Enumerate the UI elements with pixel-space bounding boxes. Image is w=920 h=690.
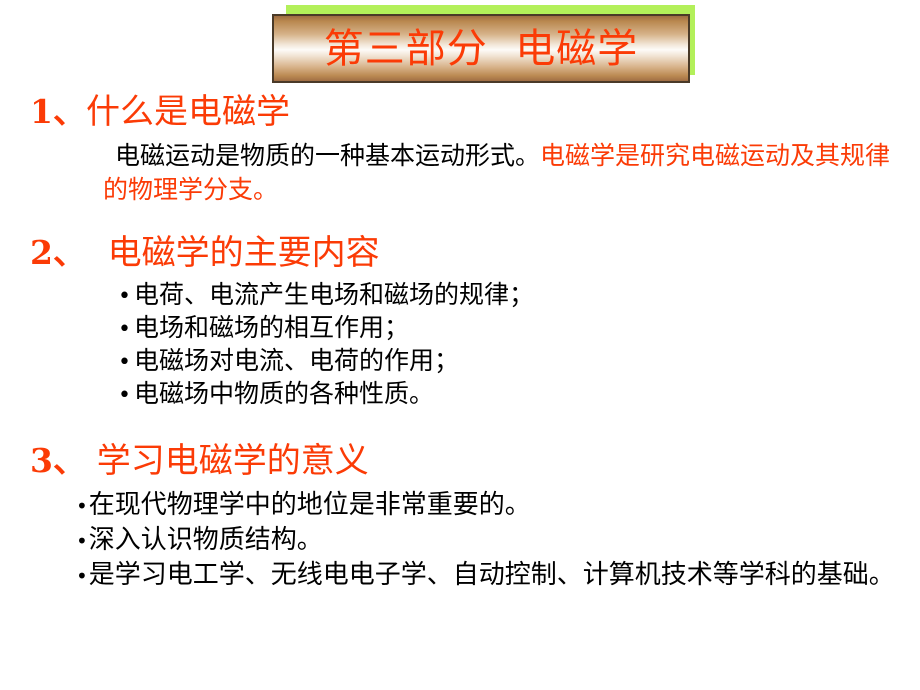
bullet-list-significance: 在现代物理学中的地位是非常重要的。 深入认识物质结构。 是学习电工学、无线电电子… (0, 488, 920, 593)
list-item: 电荷、电流产生电场和磁场的规律； (118, 278, 920, 311)
section-1-heading-text: 什么是电磁学 (86, 92, 290, 132)
section-2-heading-text: 电磁学的主要内容 (108, 233, 380, 273)
slide-title: 第三部分 电磁学 (324, 29, 638, 69)
title-banner: 第三部分 电磁学 (0, 0, 920, 90)
title-box: 第三部分 电磁学 (272, 14, 690, 83)
section-what-is-electromagnetism: 1、什么是电磁学 电磁运动是物质的一种基本运动形式。电磁学是研究电磁运动及其规律… (0, 95, 920, 208)
section-3-heading-spacer (86, 441, 97, 481)
bullet-list-content: 电荷、电流产生电场和磁场的规律； 电场和磁场的相互作用； 电磁场对电流、电荷的作… (0, 278, 920, 410)
section-significance: 3、 学习电磁学的意义 在现代物理学中的地位是非常重要的。 深入认识物质结构。 … (0, 444, 920, 593)
section-1-number: 1、 (30, 92, 86, 131)
paragraph-section-1: 电磁运动是物质的一种基本运动形式。电磁学是研究电磁运动及其规律的物理学分支。 (0, 139, 920, 208)
list-item: 是学习电工学、无线电电子学、自动控制、计算机技术等学科的基础。 (76, 558, 896, 593)
heading-section-1: 1、什么是电磁学 (0, 95, 920, 131)
slide-root: { "slide": { "title": "第三部分 电磁学", "color… (0, 0, 920, 690)
section-main-content: 2、 电磁学的主要内容 电荷、电流产生电场和磁场的规律； 电场和磁场的相互作用；… (0, 236, 920, 410)
list-item: 在现代物理学中的地位是非常重要的。 (76, 488, 896, 523)
section-3-number: 3、 (30, 441, 86, 480)
section-3-heading-text: 学习电磁学的意义 (97, 441, 369, 481)
heading-section-3: 3、 学习电磁学的意义 (0, 444, 920, 480)
list-item: 电场和磁场的相互作用； (118, 311, 920, 344)
list-item: 电磁场中物质的各种性质。 (118, 377, 920, 410)
list-item: 深入认识物质结构。 (76, 523, 896, 558)
list-item: 电磁场对电流、电荷的作用； (118, 344, 920, 377)
paragraph-black-text: 电磁运动是物质的一种基本运动形式。 (115, 141, 540, 170)
section-2-heading-spacer (86, 233, 108, 273)
section-2-number: 2、 (30, 233, 86, 272)
heading-section-2: 2、 电磁学的主要内容 (0, 236, 920, 272)
